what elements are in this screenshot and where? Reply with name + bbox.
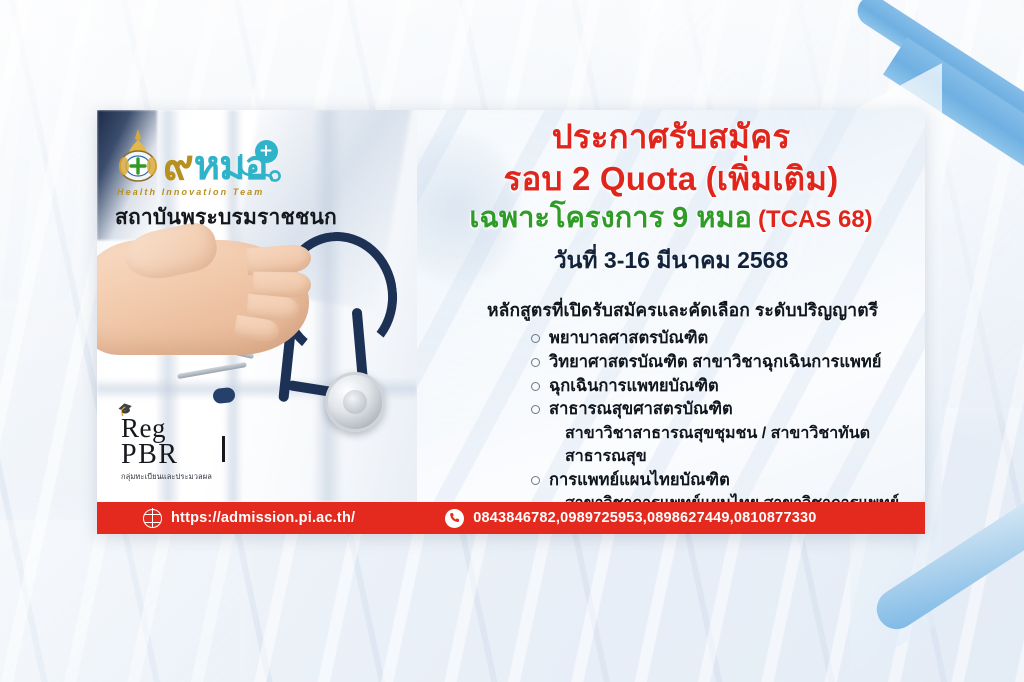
background-panel (0, 520, 240, 682)
headline-line-2: รอบ 2 Quota (เพิ่มเติม) (417, 158, 925, 200)
reg-logo-line2: PBR (121, 441, 212, 470)
website-group[interactable]: https://admission.pi.ac.th/ (143, 509, 355, 528)
reg-logo-line1: Reg (121, 415, 212, 441)
bullet-icon (531, 405, 540, 414)
headline-line-3: เฉพาะโครงการ 9 หมอ(TCAS 68) (417, 200, 925, 238)
poster-canvas: ๙ หมอ + Health Innovation Team สถาบันพระ… (0, 0, 1024, 682)
course-item-label: ฉุกเฉินการแพทยบัณฑิต (549, 375, 719, 399)
course-item-sub: สาขาวิชาการแพทย์แผนไทย สาขาวิชาการแพทย์แ… (565, 492, 919, 502)
contact-bar: https://admission.pi.ac.th/ 0843846782,0… (97, 502, 925, 534)
stethoscope-icon (237, 154, 283, 182)
headline-project: เฉพาะโครงการ 9 หมอ (469, 202, 752, 234)
finger (253, 271, 311, 297)
bullet-icon (531, 476, 540, 485)
bullet-icon (531, 334, 540, 343)
headline-line-1: ประกาศรับสมัคร (417, 116, 925, 158)
reg-logo-bar (222, 436, 225, 462)
course-item-label: พยาบาลศาสตรบัณฑิต (549, 327, 708, 351)
institute-logo: ๙ หมอ + Health Innovation Team สถาบันพระ… (115, 124, 405, 234)
doctor-photo: ๙ หมอ + Health Innovation Team สถาบันพระ… (97, 110, 417, 502)
logo-nine-glyph: ๙ (163, 144, 194, 186)
reg-logo-subtitle: กลุ่มทะเบียนและประมวลผล (121, 471, 212, 483)
globe-icon (143, 509, 162, 528)
headline-tcas: (TCAS 68) (758, 206, 873, 233)
phone-icon (445, 509, 464, 528)
application-date: วันที่ 3-16 มีนาคม 2568 (417, 243, 925, 279)
announcement-card: ๙ หมอ + Health Innovation Team สถาบันพระ… (97, 110, 925, 534)
course-item: พยาบาลศาสตรบัณฑิต (531, 327, 919, 351)
course-item-label: การแพทย์แผนไทยบัณฑิต (549, 469, 730, 493)
headline-block: ประกาศรับสมัคร รอบ 2 Quota (เพิ่มเติม) เ… (417, 116, 925, 279)
phone-group[interactable]: 0843846782,0989725953,0898627449,0810877… (445, 509, 816, 528)
bullet-icon (531, 358, 540, 367)
course-item-sub: สาขาวิชาสาธารณสุขชุมชน / สาขาวิชาทันตสาธ… (565, 422, 919, 469)
card-content: ประกาศรับสมัคร รอบ 2 Quota (เพิ่มเติม) เ… (417, 110, 925, 502)
course-item: ฉุกเฉินการแพทยบัณฑิต (531, 375, 919, 399)
reg-pbri-logo: 🎓 Reg PBR กลุ่มทะเบียนและประมวลผล (121, 415, 212, 483)
course-item: การแพทย์แผนไทยบัณฑิต (531, 469, 919, 493)
stethoscope-chestpiece (325, 372, 385, 432)
phone-numbers[interactable]: 0843846782,0989725953,0898627449,0810877… (473, 510, 816, 526)
course-list-heading: หลักสูตรที่เปิดรับสมัครและคัดเลือก ระดับ… (487, 296, 919, 324)
royal-emblem-icon (115, 128, 161, 186)
reg-logo-line2-text: PBR (121, 439, 178, 470)
course-item: สาธารณสุขศาสตรบัณฑิต (531, 398, 919, 422)
course-item-label: วิทยาศาสตรบัณฑิต สาขาวิชาฉุกเฉินการแพทย์ (549, 351, 881, 375)
course-item: วิทยาศาสตรบัณฑิต สาขาวิชาฉุกเฉินการแพทย์ (531, 351, 919, 375)
institute-name: สถาบันพระบรมราชชนก (115, 201, 405, 234)
course-list: หลักสูตรที่เปิดรับสมัครและคัดเลือก ระดับ… (487, 296, 919, 502)
website-url[interactable]: https://admission.pi.ac.th/ (171, 510, 355, 526)
course-item-label: สาธารณสุขศาสตรบัณฑิต (549, 398, 733, 422)
bullet-icon (531, 382, 540, 391)
